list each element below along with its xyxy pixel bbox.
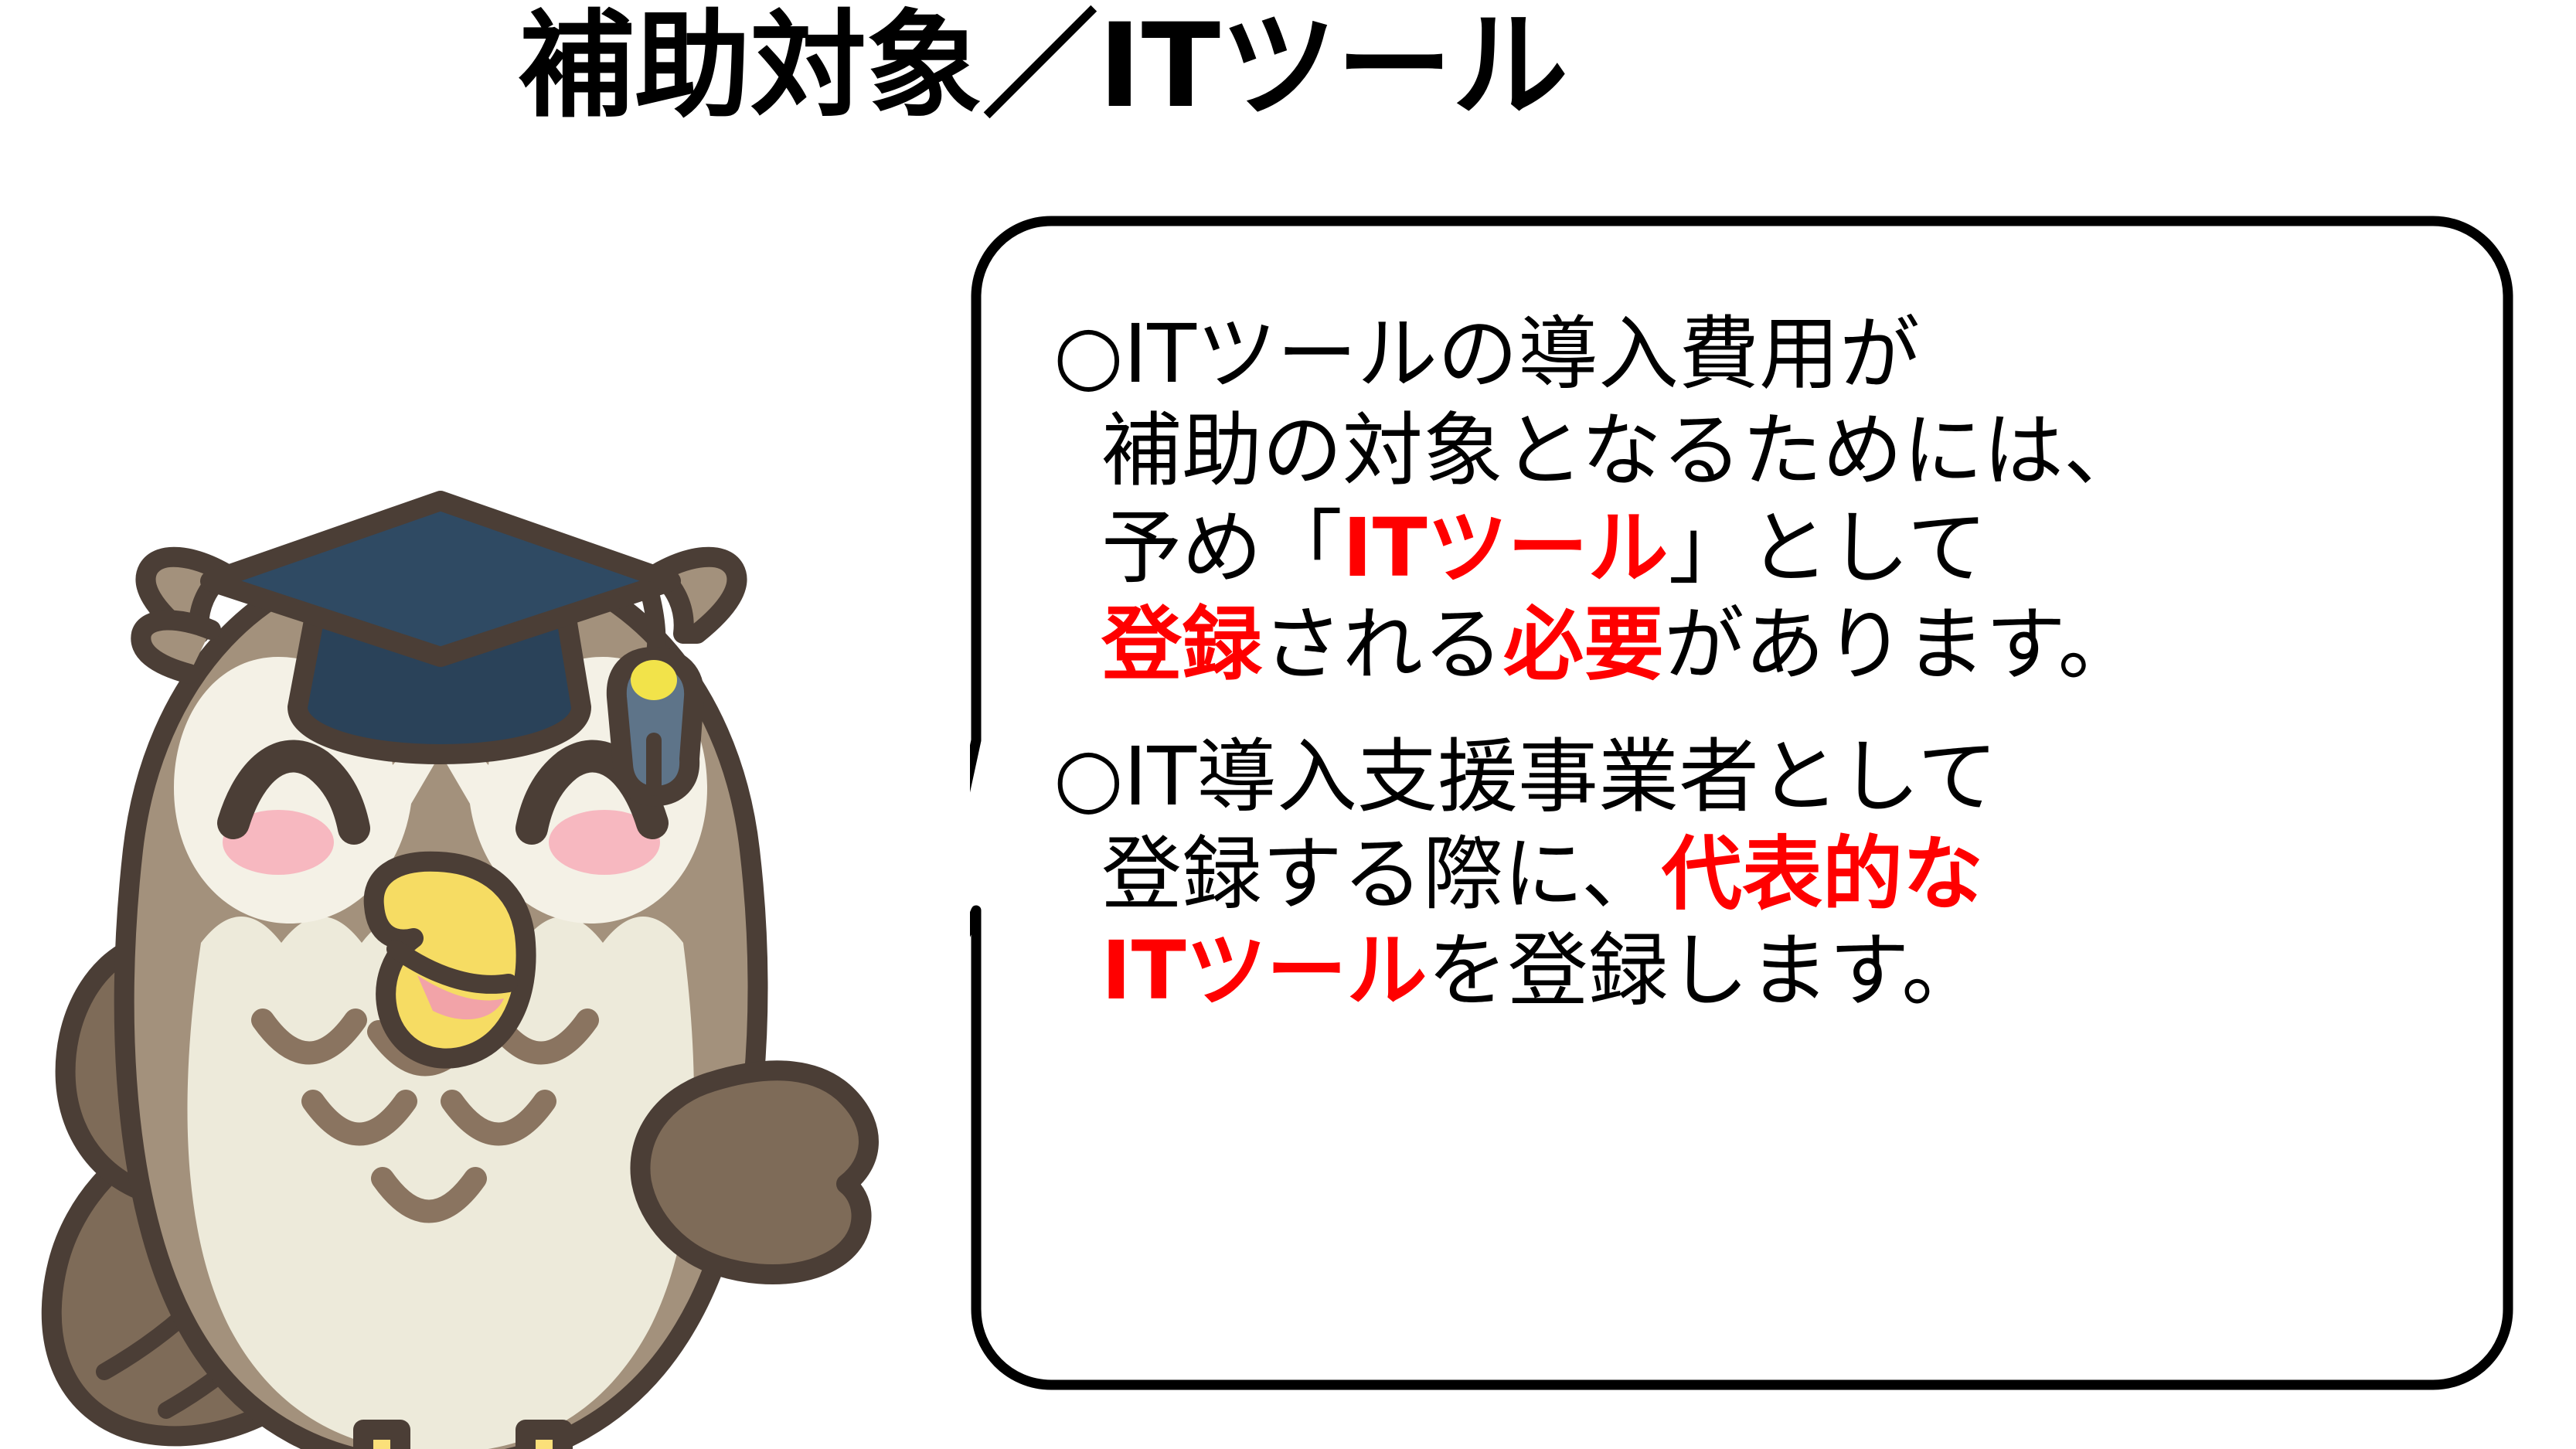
plain-text-run: 予め「 [1101,501,1342,595]
bubble-text-content: ○ITツールの導入費用が補助の対象となるためには、予め「ITツール」として登録さ… [1053,306,2499,1019]
bubble-paragraph: ○ITツールの導入費用が補助の対象となるためには、予め「ITツール」として登録さ… [1053,306,2499,693]
plain-text-run: 補助の対象となるためには、 [1101,403,2144,498]
highlighted-term: 必要 [1503,597,1664,692]
highlighted-term: 代表的な [1662,827,1983,921]
bubble-text-line: 補助の対象となるためには、 [1053,403,2499,499]
owl-ear-tuft-right [657,557,737,634]
bubble-text-line: 登録される必要があります。 [1053,597,2499,693]
owl-graduate-mascot [31,402,897,1449]
highlighted-term: 登録 [1101,597,1262,692]
plain-text-run: 登録する際に、 [1101,827,1662,921]
page-title: 補助対象／ITツール [0,2,2087,131]
bubble-paragraph: ○IT導入支援事業者として登録する際に、代表的なITツールを登録します。 [1053,729,2499,1019]
plain-text-run: があります。 [1664,597,2139,692]
bubble-text-line: ○ITツールの導入費用が [1053,306,2499,403]
plain-text-run: ○IT導入支援事業者として [1053,730,1998,824]
owl-pointing-wing [640,1070,869,1274]
plain-text-run: を登録します。 [1428,923,1982,1018]
bubble-text-line: ○IT導入支援事業者として [1053,729,2499,825]
highlighted-term: ITツール [1101,923,1428,1018]
bubble-text-line: 登録する際に、代表的な [1053,826,2499,923]
plain-text-run: 」として [1669,501,1988,595]
plain-text-run: ○ITツールの導入費用が [1053,307,1920,401]
speech-bubble: ○ITツールの導入費用が補助の対象となるためには、予め「ITツール」として登録さ… [970,215,2514,1391]
plain-text-run: される [1262,597,1503,692]
cap-tassel-button [631,660,677,700]
bubble-text-line: 予め「ITツール」として [1053,500,2499,597]
highlighted-term: ITツール [1342,501,1669,595]
bubble-text-line: ITツールを登録します。 [1053,923,2499,1019]
